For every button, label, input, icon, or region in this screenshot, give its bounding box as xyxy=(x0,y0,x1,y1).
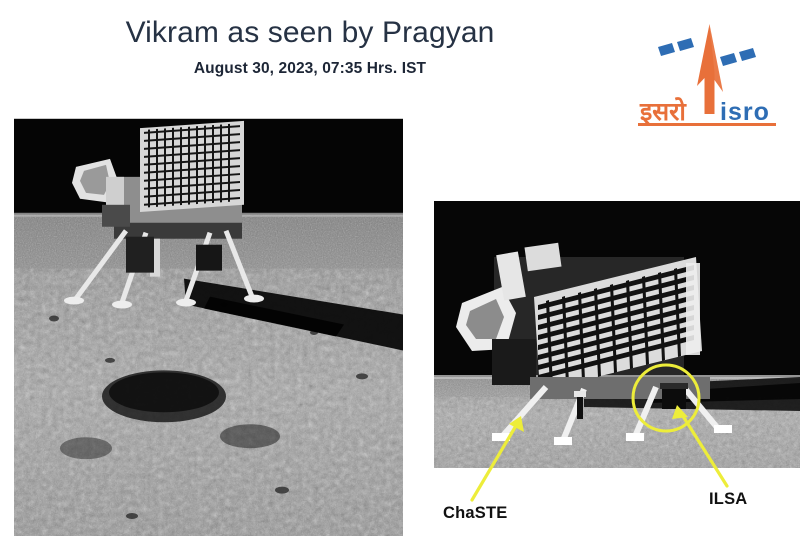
isro-logo: इसरो isro xyxy=(628,22,788,130)
photo-vikram-lander-wide-view xyxy=(14,118,403,536)
presentation-slide: Vikram as seen by Pragyan August 30, 202… xyxy=(0,0,800,536)
logo-text-devanagari: इसरो xyxy=(639,97,687,126)
page-title: Vikram as seen by Pragyan xyxy=(0,16,620,50)
logo-text-latin: isro xyxy=(720,98,770,126)
annotation-label-chaste: ChaSTE xyxy=(443,504,507,523)
logo-underline xyxy=(638,123,776,126)
photo-vikram-lander-close-view xyxy=(434,201,800,468)
solar-panel-segments-left xyxy=(658,38,694,56)
solar-panel-segments-right xyxy=(720,48,756,66)
page-subtitle-timestamp: August 30, 2023, 07:35 Hrs. IST xyxy=(0,60,620,78)
annotation-label-ilsa: ILSA xyxy=(709,490,747,509)
